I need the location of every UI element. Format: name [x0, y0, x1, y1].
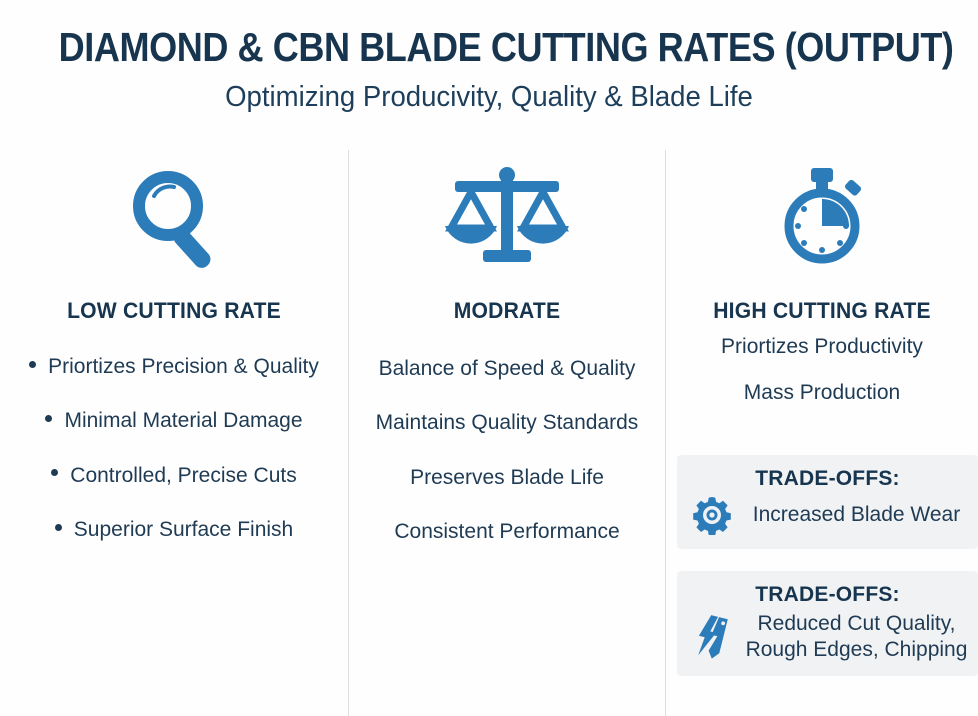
tradeoff-box-cut-quality: TRADE-OFFS: Reduced Cut Quality, Rough E… — [677, 571, 978, 676]
header: DIAMOND & CBN BLADE CUTTING RATES (OUTPU… — [0, 0, 978, 114]
cracked-blade-icon — [689, 613, 735, 661]
column-high-cutting-rate: HIGH CUTTING RATE Priortizes Productivit… — [665, 150, 978, 716]
tradeoff-title: TRADE-OFFS: — [685, 583, 970, 607]
list-item: Superior Surface Finish — [0, 517, 348, 543]
list-item: Controlled, Precise Cuts — [0, 463, 348, 489]
bullet-dot-icon — [29, 361, 36, 368]
column-heading-moderate: MODRATE — [355, 298, 658, 324]
list-item: Priortizes Productivity — [666, 334, 978, 360]
balance-scale-icon — [349, 150, 665, 278]
list-item: Maintains Quality Standards — [349, 410, 665, 436]
list-item: Priortizes Precision & Quality — [0, 354, 348, 380]
list-item: Mass Production — [666, 380, 978, 406]
page-title: DIAMOND & CBN BLADE CUTTING RATES (OUTPU… — [59, 26, 920, 69]
tradeoff-text: Reduced Cut Quality, Rough Edges, Chippi… — [743, 611, 970, 662]
column-heading-low: LOW CUTTING RATE — [7, 298, 341, 324]
tradeoff-body: Increased Blade Wear — [685, 495, 970, 535]
column-moderate: MODRATE Balance of Speed & Quality Maint… — [348, 150, 665, 716]
list-item: Minimal Material Damage — [0, 408, 348, 434]
tradeoffs-container: TRADE-OFFS: Increased Blade Wear — [677, 455, 978, 698]
bullet-dot-icon — [55, 524, 62, 531]
list-item: Balance of Speed & Quality — [349, 356, 665, 382]
tradeoff-text: Increased Blade Wear — [743, 502, 970, 528]
columns-container: LOW CUTTING RATE Priortizes Precision & … — [0, 150, 978, 716]
tradeoff-body: Reduced Cut Quality, Rough Edges, Chippi… — [685, 611, 970, 662]
list-item: Consistent Performance — [349, 519, 665, 545]
list-item: Preserves Blade Life — [349, 465, 665, 491]
list-item-label: Priortizes Precision & Quality — [48, 355, 319, 378]
stopwatch-icon — [666, 150, 978, 278]
tradeoff-box-blade-wear: TRADE-OFFS: Increased Blade Wear — [677, 455, 978, 549]
list-item-label: Minimal Material Damage — [64, 409, 302, 432]
column-heading-high: HIGH CUTTING RATE — [672, 298, 972, 324]
moderate-list: Balance of Speed & Quality Maintains Qua… — [349, 356, 665, 545]
tradeoff-title: TRADE-OFFS: — [685, 467, 970, 491]
magnifier-icon — [0, 150, 348, 278]
bullet-dot-icon — [51, 469, 58, 476]
column-low-cutting-rate: LOW CUTTING RATE Priortizes Precision & … — [0, 150, 348, 716]
list-item-label: Superior Surface Finish — [74, 518, 293, 541]
low-rate-list: Priortizes Precision & Quality Minimal M… — [0, 354, 348, 543]
bullet-dot-icon — [45, 415, 52, 422]
list-item-label: Controlled, Precise Cuts — [70, 464, 296, 487]
high-rate-list: Priortizes Productivity Mass Production — [666, 334, 978, 407]
gear-icon — [689, 495, 735, 535]
page-subtitle: Optimizing Producivity, Quality & Blade … — [24, 81, 953, 114]
